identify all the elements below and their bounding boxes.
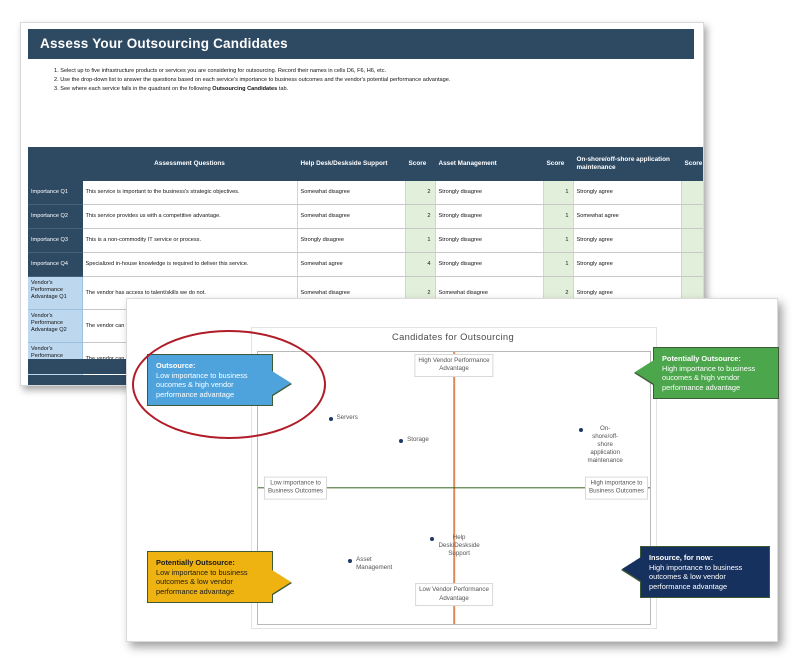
instructions-block: 1. Select up to five infrastructure prod… (54, 67, 694, 95)
callout-outsource-tail (272, 371, 291, 395)
data-point-label: On-shore/off-shore application maintenan… (587, 425, 622, 465)
row-question-1: This service provides us with a competit… (82, 205, 297, 229)
callout-potentially-outsource-high: Potentially Outsource: High importance t… (653, 347, 779, 399)
header-score-3: Score (681, 147, 704, 181)
chart-title: Candidates for Outsourcing (251, 331, 655, 342)
row-score-service3-2: 5 (681, 229, 704, 253)
row-score-service1-0: 2 (405, 181, 435, 205)
callout-potentially-outsource-low: Potentially Outsource: Low importance to… (147, 551, 273, 603)
data-point-marker (430, 537, 434, 541)
header-assessment-questions: Assessment Questions (82, 147, 297, 181)
row-score-service2-2: 1 (543, 229, 573, 253)
table-row: Importance Q3This is a non-commodity IT … (28, 229, 704, 253)
callout-potentially-outsource-high-tail (635, 360, 654, 384)
table-row: Importance Q2This service provides us wi… (28, 205, 704, 229)
row-label-1: Importance Q2 (28, 205, 82, 229)
row-score-service1-2: 1 (405, 229, 435, 253)
data-point-marker (348, 559, 352, 563)
header-service-2: Asset Management (435, 147, 543, 181)
instruction-line-3: 3. See where each service falls in the q… (54, 85, 694, 94)
callout-potentially-outsource-high-title: Potentially Outsource: (662, 354, 770, 364)
callout-potentially-outsource-high-body: High importance to business oucomes & hi… (662, 364, 755, 392)
instruction-line-2: 2. Use the drop-down list to answer the … (54, 76, 694, 85)
row-label-4: Vendor's Performance Advantage Q1 (28, 277, 82, 310)
row-question-3: Specialized in-house knowledge is requir… (82, 253, 297, 277)
row-score-service2-0: 1 (543, 181, 573, 205)
row-score-service3-1: 4 (681, 205, 704, 229)
axis-label-high-vendor-performance: High Vendor Performance Advantage (414, 354, 493, 377)
callout-outsource: Outsource: Low importance to business ou… (147, 354, 273, 406)
row-question-2: This is a non-commodity IT service or pr… (82, 229, 297, 253)
instruction-3-pre: 3. See where each service falls in the q… (54, 86, 212, 92)
header-score-1: Score (405, 147, 435, 181)
row-answer-service2-2[interactable]: Strongly disagree (435, 229, 543, 253)
data-point-label: Servers (337, 414, 358, 422)
row-answer-service3-0[interactable]: Strongly agree (573, 181, 681, 205)
data-point-marker (399, 439, 403, 443)
row-answer-service2-3[interactable]: Strongly disagree (435, 253, 543, 277)
data-point-label: Asset Management (356, 556, 392, 572)
callout-potentially-outsource-low-tail (272, 570, 291, 594)
outsourcing-candidates-tab-ref: Outsourcing Candidates (212, 86, 277, 92)
table-row: Importance Q4Specialized in-house knowle… (28, 253, 704, 277)
row-answer-service1-2[interactable]: Strongly disagree (297, 229, 405, 253)
callout-insource: Insource, for now: High importance to bu… (640, 546, 770, 598)
callout-outsource-body: Low importance to business oucomes & hig… (156, 371, 248, 399)
axis-label-low-vendor-performance: Low Vendor Performance Advantage (415, 583, 493, 606)
callout-outsource-title: Outsource: (156, 361, 264, 371)
callout-insource-tail (622, 557, 641, 581)
row-label-3: Importance Q4 (28, 253, 82, 277)
table-header-row: Assessment Questions Help Desk/Deskside … (28, 147, 704, 181)
data-point-marker (579, 428, 583, 432)
header-service-3: On-shore/off-shore application maintenan… (573, 147, 681, 181)
callout-potentially-outsource-low-title: Potentially Outsource: (156, 558, 264, 568)
row-score-service2-3: 1 (543, 253, 573, 277)
axis-label-high-importance: High importance to Business Outcomes (585, 477, 648, 500)
row-answer-service2-0[interactable]: Strongly disagree (435, 181, 543, 205)
row-label-5: Vendor's Performance Advantage Q2 (28, 310, 82, 343)
row-answer-service3-1[interactable]: Somewhat agree (573, 205, 681, 229)
data-point-label: Help Desk/Deskside Support (438, 534, 479, 558)
row-answer-service1-3[interactable]: Somewhat agree (297, 253, 405, 277)
row-answer-service3-2[interactable]: Strongly agree (573, 229, 681, 253)
page-title: Assess Your Outsourcing Candidates (28, 29, 694, 51)
row-label-2: Importance Q3 (28, 229, 82, 253)
row-score-service3-3: 5 (681, 253, 704, 277)
instruction-3-post: tab. (277, 86, 288, 92)
callout-potentially-outsource-low-body: Low importance to business outcomes & lo… (156, 568, 248, 596)
row-label-0: Importance Q1 (28, 181, 82, 205)
row-score-service3-0: 5 (681, 181, 704, 205)
sheet-title-bar: Assess Your Outsourcing Candidates (28, 29, 694, 59)
row-answer-service2-1[interactable]: Strongly disagree (435, 205, 543, 229)
callout-insource-body: High importance to business outcomes & l… (649, 563, 742, 591)
row-score-service2-1: 1 (543, 205, 573, 229)
row-answer-service1-0[interactable]: Somewhat disagree (297, 181, 405, 205)
header-service-1: Help Desk/Deskside Support (297, 147, 405, 181)
callout-insource-title: Insource, for now: (649, 553, 761, 563)
table-row: Importance Q1This service is important t… (28, 181, 704, 205)
axis-label-low-importance: Low importance to Business Outcomes (264, 477, 327, 500)
row-answer-service3-3[interactable]: Strongly agree (573, 253, 681, 277)
header-rowlabel (28, 147, 82, 181)
row-score-service1-3: 4 (405, 253, 435, 277)
header-score-2: Score (543, 147, 573, 181)
data-point-marker (329, 417, 333, 421)
row-question-0: This service is important to the busines… (82, 181, 297, 205)
row-score-service1-1: 2 (405, 205, 435, 229)
row-answer-service1-1[interactable]: Somewhat disagree (297, 205, 405, 229)
data-point-label: Storage (407, 436, 429, 444)
scatter-plot-area: High Vendor Performance Advantage Low Ve… (257, 351, 651, 625)
instruction-line-1: 1. Select up to five infrastructure prod… (54, 67, 694, 76)
